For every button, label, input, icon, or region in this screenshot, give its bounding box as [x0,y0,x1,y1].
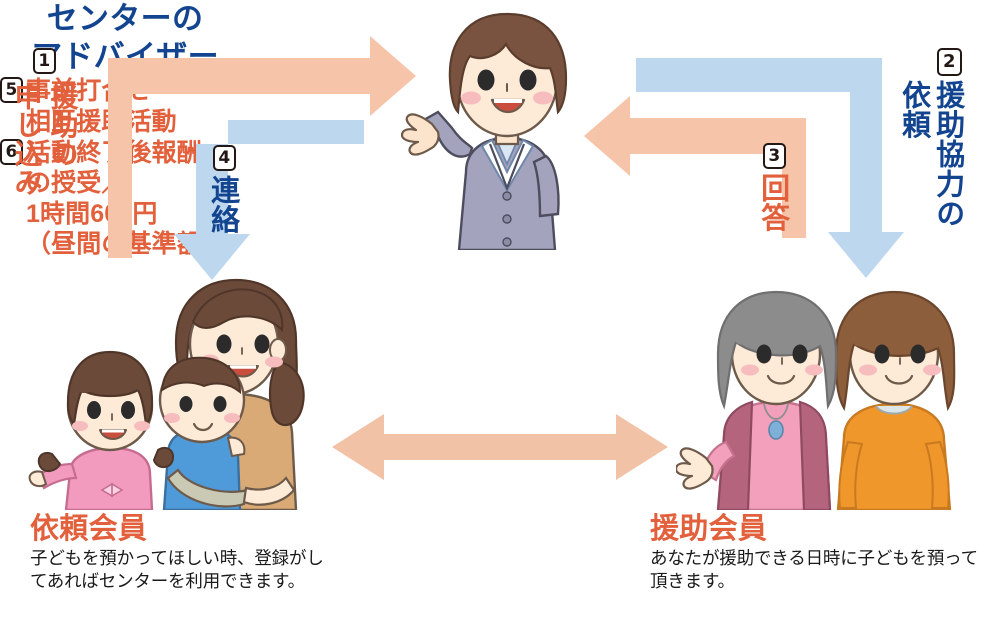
supporter-member-body: あなたが援助できる日時に子どもを預って頂きます。 [650,547,985,593]
step-4-badge: 4 [213,145,236,171]
step-3-label: 3 [761,143,788,169]
client-member-heading: 依頼会員 [30,505,335,547]
step-2-text-col1: 援助協力の [932,80,962,228]
step-1-text-col2: 申し込み [12,82,41,196]
figure-advisor [400,4,615,250]
step-3-badge: 3 [763,143,786,169]
step-1-badge: 1 [33,48,56,74]
step-2-badge: 2 [937,48,962,76]
supporter-member-block: 援助会員 あなたが援助できる日時に子どもを預って頂きます。 [650,505,985,593]
step-1-text-col1: 援助の [48,82,77,168]
figure-client-family [28,278,328,510]
arrow-step-5-6-bidirectional [332,414,668,480]
client-member-block: 依頼会員 子どもを預かってほしい時、登録がしてあればセンターを利用できます。 [30,505,335,593]
step-2-label: 2 [936,48,963,76]
arrow-step-1 [108,36,416,258]
client-member-body: 子どもを預かってほしい時、登録がしてあればセンターを利用できます。 [30,547,335,593]
step-4-label: 4 [211,145,238,171]
arrow-step-4 [174,120,364,280]
step-4-text: 連絡 [207,175,237,234]
step-2-text-col2: 依頼 [898,80,928,139]
figure-supporter-pair [676,282,986,510]
supporter-member-heading: 援助会員 [650,505,985,547]
step-3-text: 回答 [757,173,787,232]
